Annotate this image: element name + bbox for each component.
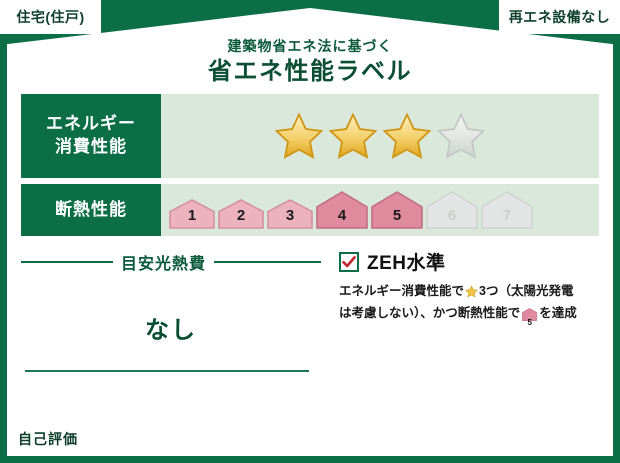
star-icon-inline [465,287,478,301]
house-icon-inline: 5 [522,308,537,327]
star-icon-filled [329,112,377,160]
house-level-value: 3 [267,207,313,224]
star-rating [275,112,485,160]
energy-performance-label-cell: エネルギー 消費性能 [21,94,161,178]
label-card: エネルギー 消費性能 断熱性能 1234567 [7,90,613,456]
cost-underline [25,370,309,372]
energy-label-line1: エネルギー [46,113,136,136]
lower-section: 目安光熱費 なし ZEH水準 [21,242,599,412]
zeh-checkbox[interactable] [339,252,359,272]
house-level: 4 [316,191,368,229]
zeh-desc-part2: は考慮しない）、かつ断熱性能で [339,306,520,320]
property-address: 4295奈良市三松ヶ丘1棟1号棟 [90,430,257,449]
zeh-desc-star-count: 3つ（太陽光発電 [479,284,573,298]
house-level: 2 [218,199,264,229]
check-icon [341,254,357,270]
insulation-performance-label-cell: 断熱性能 [21,184,161,236]
footer: 自己評価 4295奈良市三松ヶ丘1棟1号棟 評価日 2025年7月1日 7b84… [0,415,620,463]
insulation-performance-row: 断熱性能 1234567 [21,184,599,236]
zeh-desc-part3: を達成 [539,306,577,320]
evaluation-date-label: 評価日 [478,428,519,443]
energy-label-line2: 消費性能 [55,136,127,159]
header-text-group: 建築物省エネ法に基づく 省エネ性能ラベル [7,38,613,87]
house-level-value: 1 [169,207,215,224]
zeh-header: ZEH水準 [339,248,599,275]
zeh-section: ZEH水準 エネルギー消費性能で3つ（太陽光発電 は考慮しない）、かつ断熱性能で… [321,242,599,412]
house-level: 1 [169,199,215,229]
house-level: 7 [481,191,533,229]
insulation-label: 断熱性能 [55,199,127,222]
energy-performance-row: エネルギー 消費性能 [21,94,599,178]
house-level: 6 [426,191,478,229]
cost-rule-right [214,261,321,263]
badge-renewable-energy: 再エネ設備なし [496,0,620,34]
zeh-description: エネルギー消費性能で3つ（太陽光発電 は考慮しない）、かつ断熱性能で5を達成 [339,282,599,328]
house-level-value: 4 [316,207,368,224]
utility-cost-title: 目安光熱費 [121,250,206,274]
evaluation-date-value: 2025年7月1日 [522,428,608,443]
star-icon-empty [437,112,485,160]
zeh-title: ZEH水準 [367,248,446,275]
evaluation-date: 評価日 2025年7月1日 [478,424,608,444]
utility-cost-header: 目安光熱費 [21,250,321,274]
house-level-value: 6 [426,207,478,224]
self-evaluation-badge: 自己評価 [12,427,84,451]
footer-right-group: 評価日 2025年7月1日 7b841306-7e30-428d [478,424,608,454]
cost-rule-left [21,261,113,263]
house-level: 3 [267,199,313,229]
house-level-value: 2 [218,207,264,224]
insulation-performance-value-cell: 1234567 [161,184,599,236]
energy-performance-label: 住宅(住戸) 再エネ設備なし 建築物省エネ法に基づく 省エネ性能ラベル エネルギ… [0,0,620,463]
zeh-desc-part1: エネルギー消費性能で [339,284,464,298]
badge-building-type: 住宅(住戸) [0,0,104,34]
star-icon-filled [275,112,323,160]
header-subtitle: 建築物省エネ法に基づく [7,38,613,55]
page-title: 省エネ性能ラベル [7,57,613,87]
house-rating-scale: 1234567 [161,191,533,229]
house-level: 5 [371,191,423,229]
energy-performance-value-cell [161,94,599,178]
evaluation-id: 7b841306-7e30-428d [478,445,608,454]
utility-cost-section: 目安光熱費 なし [21,242,321,412]
star-icon-filled [383,112,431,160]
house-level-value: 7 [481,207,533,224]
house-icon-inline-value: 5 [522,319,537,327]
house-level-value: 5 [371,207,423,224]
utility-cost-value: なし [21,310,321,345]
